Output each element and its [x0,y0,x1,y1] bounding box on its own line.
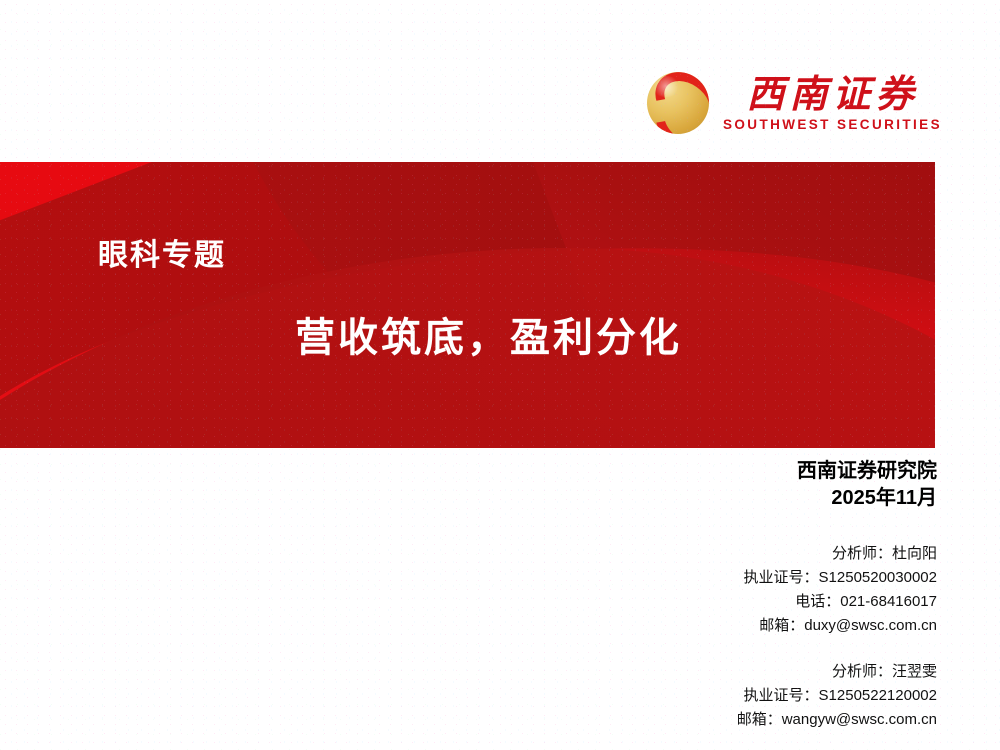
analyst-2-name: 分析师：汪翌雯 [437,660,937,684]
publication-date: 2025年11月 [437,485,937,512]
analyst-2-license: 执业证号：S1250522120002 [437,684,937,708]
report-kicker: 眼科专题 [98,230,226,274]
logo-wordmark: 西南证券 SOUTHWEST SECURITIES [723,75,942,132]
header-bar: 西南证券 SOUTHWEST SECURITIES [0,0,1000,162]
logo-company-name-cn: 西南证券 [746,75,918,113]
title-banner: 眼科专题 营收筑底，盈利分化 [0,162,935,448]
logo-gloss [652,76,681,97]
analyst-2-email: 邮箱：wangyw@swsc.com.cn [437,708,937,732]
report-title: 营收筑底，盈利分化 [295,305,682,363]
banner-text-group: 眼科专题 营收筑底，盈利分化 [0,162,935,448]
analyst-1-email: 邮箱：duxy@swsc.com.cn [437,614,937,638]
publisher-info: 西南证券研究院 2025年11月 分析师：杜向阳 执业证号：S125052003… [437,458,937,732]
analyst-card-2: 分析师：汪翌雯 执业证号：S1250522120002 邮箱：wangyw@sw… [437,660,937,732]
logo-company-name-en: SOUTHWEST SECURITIES [723,118,942,132]
swsc-swirl-icon [647,72,709,134]
analyst-1-phone: 电话：021-68416017 [437,590,937,614]
research-institute-name: 西南证券研究院 [437,458,937,485]
analyst-1-name: 分析师：杜向阳 [437,542,937,566]
report-cover-slide: 西南证券 SOUTHWEST SECURITIES 眼科专题 营收筑底，盈利分化… [0,0,1000,750]
company-logo: 西南证券 SOUTHWEST SECURITIES [647,72,942,134]
analyst-card-1: 分析师：杜向阳 执业证号：S1250520030002 电话：021-68416… [437,542,937,638]
analyst-1-license: 执业证号：S1250520030002 [437,566,937,590]
